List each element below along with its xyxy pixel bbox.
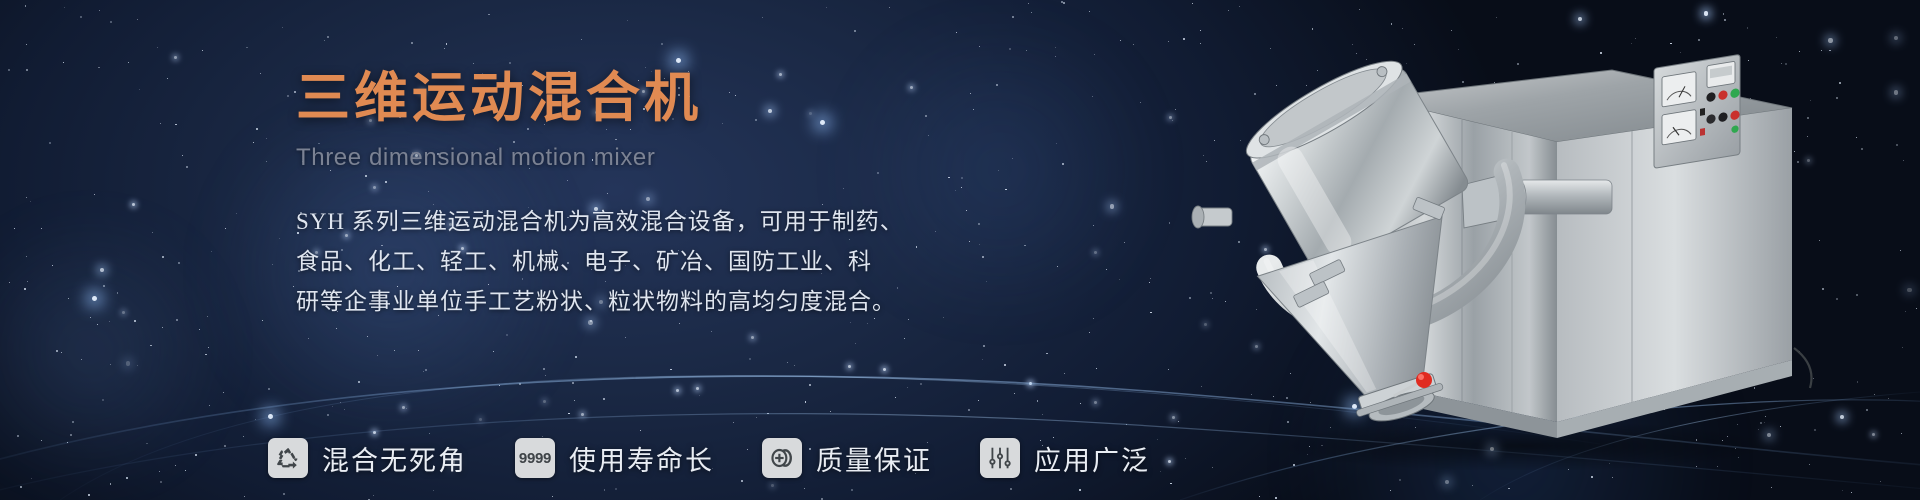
page-subtitle: Three dimensional motion mixer	[296, 144, 936, 172]
feature-item-quality: 质量保证	[762, 438, 932, 478]
feature-label: 混合无死角	[322, 439, 467, 478]
sliders-icon	[980, 438, 1020, 478]
mixer-machine-illustration	[1162, 30, 1862, 470]
paragraph-line: 研等企事业单位手工艺粉状、粒状物料的高均匀度混合。	[296, 282, 936, 322]
recycle-icon	[268, 438, 308, 478]
description-paragraph: SYH 系列三维运动混合机为高效混合设备，可用于制药、 食品、化工、轻工、机械、…	[296, 202, 936, 322]
feature-list: 混合无死角 9999 使用寿命长 质量保证	[268, 438, 1150, 478]
feature-label: 应用广泛	[1034, 439, 1150, 478]
feature-item-mixing: 混合无死角	[268, 438, 467, 478]
feature-label: 使用寿命长	[569, 439, 714, 478]
background-haze	[0, 220, 240, 480]
product-image	[1162, 30, 1862, 470]
paragraph-line: SYH 系列三维运动混合机为高效混合设备，可用于制药、	[296, 202, 936, 242]
banner-copy: 三维运动混合机 Three dimensional motion mixer S…	[296, 68, 936, 322]
counter-value: 9999	[519, 450, 551, 467]
page-title: 三维运动混合机	[296, 68, 936, 128]
paragraph-line: 食品、化工、轻工、机械、电子、矿冶、国防工业、科	[296, 242, 936, 282]
hero-banner: 三维运动混合机 Three dimensional motion mixer S…	[0, 0, 1920, 500]
feature-label: 质量保证	[816, 439, 932, 478]
counter-9999-icon: 9999	[515, 438, 555, 478]
coin-plus-icon	[762, 438, 802, 478]
feature-item-lifespan: 9999 使用寿命长	[515, 438, 714, 478]
feature-item-applications: 应用广泛	[980, 438, 1150, 478]
